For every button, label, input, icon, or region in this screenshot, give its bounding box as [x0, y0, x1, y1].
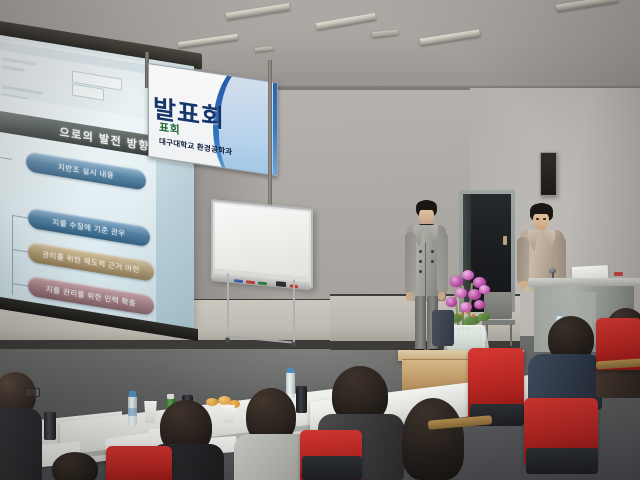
- eye: [536, 218, 539, 220]
- whiteboard-stand: [213, 272, 308, 353]
- stand-wheel-icon: [291, 341, 296, 346]
- coat-button-icon: [419, 270, 422, 273]
- background-figure: [432, 310, 454, 346]
- podium-marker: [614, 272, 623, 276]
- wall-speaker-icon: [540, 152, 557, 196]
- arm: [405, 232, 416, 294]
- beverage-can: [44, 412, 56, 440]
- orange-snack: [206, 398, 218, 406]
- orchid-bloom: [474, 300, 485, 309]
- photo-scene: ENVIRONMENT 으로의 발전 방향 지반조 실시 내용 지를 수질에 기…: [0, 0, 640, 480]
- hair-fringe: [530, 204, 553, 214]
- slide-pill: 지반조 실시 내용: [26, 151, 146, 190]
- coat-button-icon: [419, 260, 422, 263]
- arm: [437, 232, 448, 294]
- hand: [406, 292, 413, 300]
- orchid-bloom: [446, 297, 457, 307]
- hair-fringe: [416, 201, 437, 210]
- audience-head: [402, 398, 464, 480]
- berry-accent: [459, 313, 462, 316]
- hand: [438, 292, 445, 300]
- stand-leg: [227, 273, 229, 339]
- coat-button-icon: [419, 250, 422, 253]
- foliage: [478, 313, 490, 321]
- orchid-bloom: [462, 270, 474, 280]
- coat-seam: [425, 242, 426, 300]
- beverage-can: [296, 386, 307, 413]
- slide-title: 으로의 발전 방향: [60, 123, 150, 154]
- slide-side-panel: [156, 160, 192, 328]
- berry-accent: [472, 314, 475, 317]
- whiteboard-surface: [215, 203, 309, 277]
- bottle-label: [128, 408, 137, 416]
- coat-button-icon: [431, 250, 434, 253]
- orchid-bloom: [455, 288, 467, 298]
- arm: [517, 237, 529, 284]
- seat-back-panel: [302, 456, 362, 480]
- berry-accent: [466, 311, 469, 314]
- stand-wheel-icon: [225, 337, 230, 342]
- orchid-bloom: [450, 276, 463, 287]
- coat-button-icon: [431, 260, 434, 263]
- hand: [519, 281, 528, 288]
- stand-crossbar: [227, 335, 295, 343]
- bottle-cap: [287, 368, 294, 373]
- bottle-cap: [129, 391, 136, 397]
- banner-subtitle: 표회: [159, 119, 180, 138]
- auditorium-seat[interactable]: [106, 446, 172, 480]
- stand-leg: [293, 280, 295, 344]
- chair-leg: [510, 324, 512, 346]
- event-banner: 발표회 표회 대구대학교 환경공학과: [148, 63, 278, 176]
- audience-head: [52, 452, 98, 480]
- seat-back-panel: [526, 448, 598, 474]
- orchid-bloom: [479, 285, 490, 294]
- eye: [543, 218, 546, 220]
- leg: [415, 296, 426, 352]
- door-handle: [503, 236, 507, 245]
- audience-body: [0, 408, 42, 480]
- slide-connector: [0, 154, 12, 160]
- slide-pill: 관리를 위한 제도적 근거 마련: [28, 242, 154, 282]
- eyeglasses-icon: [24, 388, 40, 397]
- bottle-cap: [167, 394, 174, 399]
- slide-pill: 지를 수질에 기준 관우: [28, 208, 150, 248]
- arm: [554, 237, 566, 284]
